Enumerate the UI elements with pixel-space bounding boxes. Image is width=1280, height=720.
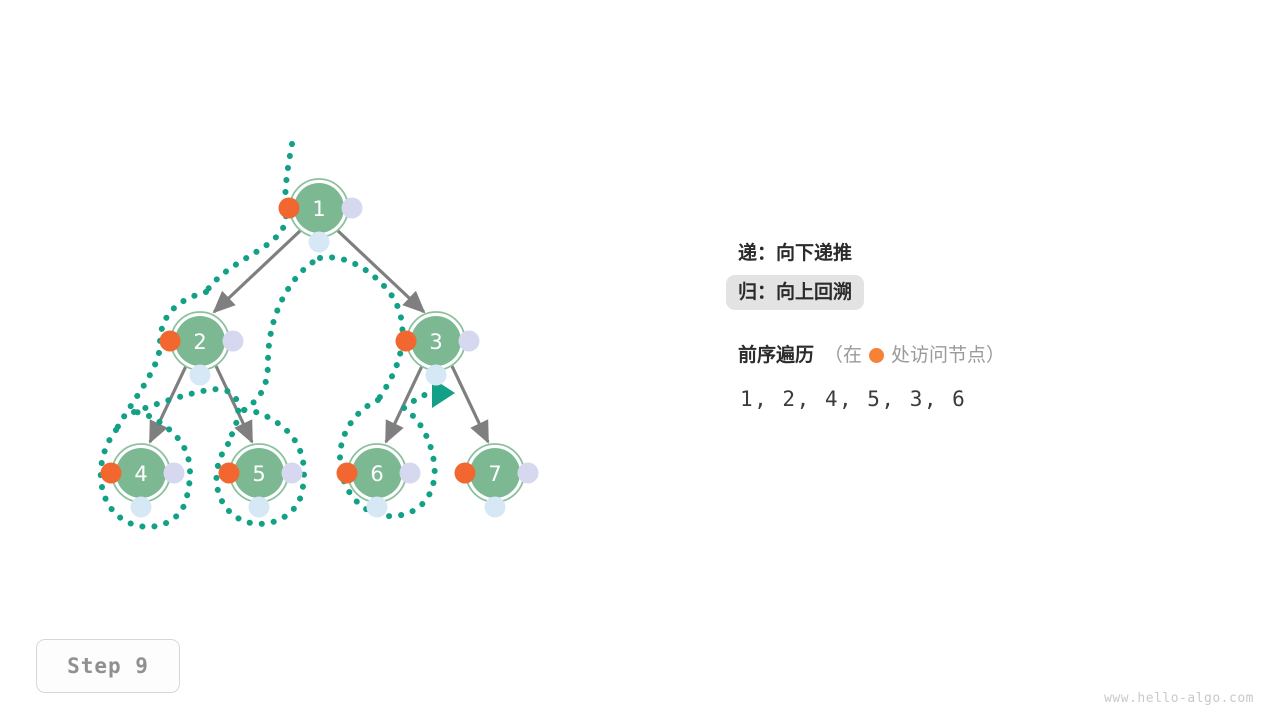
- path-segment-5-to-root: [244, 258, 320, 410]
- node-6-bottom-dot: [367, 497, 388, 518]
- node-1-right-dot: [342, 198, 363, 219]
- node-5-label: 5: [252, 462, 265, 486]
- node-3-bottom-dot: [426, 365, 447, 386]
- node-7-visit-dot: [455, 463, 476, 484]
- step-badge: Step 9: [36, 639, 180, 693]
- node-4-bottom-dot: [131, 497, 152, 518]
- tree-node-4[interactable]: 4: [101, 444, 185, 518]
- node-2-label: 2: [193, 330, 206, 354]
- watermark: www.hello-algo.com: [1104, 691, 1254, 706]
- node-4-visit-dot: [101, 463, 122, 484]
- tree-node-6[interactable]: 6: [337, 444, 421, 518]
- node-3-visit-dot: [396, 331, 417, 352]
- node-5-visit-dot: [219, 463, 240, 484]
- node-7-label: 7: [488, 462, 501, 486]
- traversal-sequence: 1, 2, 4, 5, 3, 6: [726, 387, 1246, 411]
- node-5-right-dot: [282, 463, 303, 484]
- node-6-right-dot: [400, 463, 421, 484]
- node-4-label: 4: [134, 462, 147, 486]
- node-7-right-dot: [518, 463, 539, 484]
- path-segment-enter-root: [206, 144, 292, 292]
- node-2-visit-dot: [160, 331, 181, 352]
- node-5-bottom-dot: [249, 497, 270, 518]
- visit-marker-icon: [869, 348, 884, 363]
- tree-node-3[interactable]: 3: [396, 312, 480, 386]
- tree-node-2[interactable]: 2: [160, 312, 244, 386]
- traversal-order-title: 前序遍历 （在 处访问节点）: [726, 346, 1246, 365]
- legend-backtrack-label: 归：向上回溯: [726, 275, 864, 310]
- legend-row-recurse: 递：向下递推: [726, 236, 1246, 271]
- traversal-note-suffix: 处访问节点）: [891, 346, 1005, 365]
- node-1-visit-dot: [279, 198, 300, 219]
- node-4-right-dot: [164, 463, 185, 484]
- node-6-visit-dot: [337, 463, 358, 484]
- tree-node-5[interactable]: 5: [219, 444, 303, 518]
- edge-1-3: [337, 230, 424, 312]
- node-3-right-dot: [459, 331, 480, 352]
- edge-3-7: [452, 366, 488, 442]
- diagram-canvas: 1 2 3 4: [0, 0, 1280, 720]
- step-badge-label: Step 9: [67, 654, 149, 678]
- legend-panel: 递：向下递推 归：向上回溯 前序遍历 （在 处访问节点） 1, 2, 4, 5,…: [726, 236, 1246, 411]
- tree-node-7[interactable]: 7: [455, 444, 539, 518]
- traversal-type-label: 前序遍历: [738, 346, 814, 365]
- traversal-note-prefix: （在: [824, 346, 862, 365]
- legend-row-backtrack: 归：向上回溯: [726, 275, 1246, 310]
- node-6-label: 6: [370, 462, 383, 486]
- node-2-right-dot: [223, 331, 244, 352]
- node-2-bottom-dot: [190, 365, 211, 386]
- node-1-bottom-dot: [309, 232, 330, 253]
- node-7-bottom-dot: [485, 497, 506, 518]
- legend-recurse-label: 递：向下递推: [726, 236, 864, 271]
- node-1-label: 1: [312, 197, 325, 221]
- node-3-label: 3: [429, 330, 442, 354]
- edge-2-5: [216, 366, 252, 442]
- traversal-order-block: 前序遍历 （在 处访问节点） 1, 2, 4, 5, 3, 6: [726, 346, 1246, 411]
